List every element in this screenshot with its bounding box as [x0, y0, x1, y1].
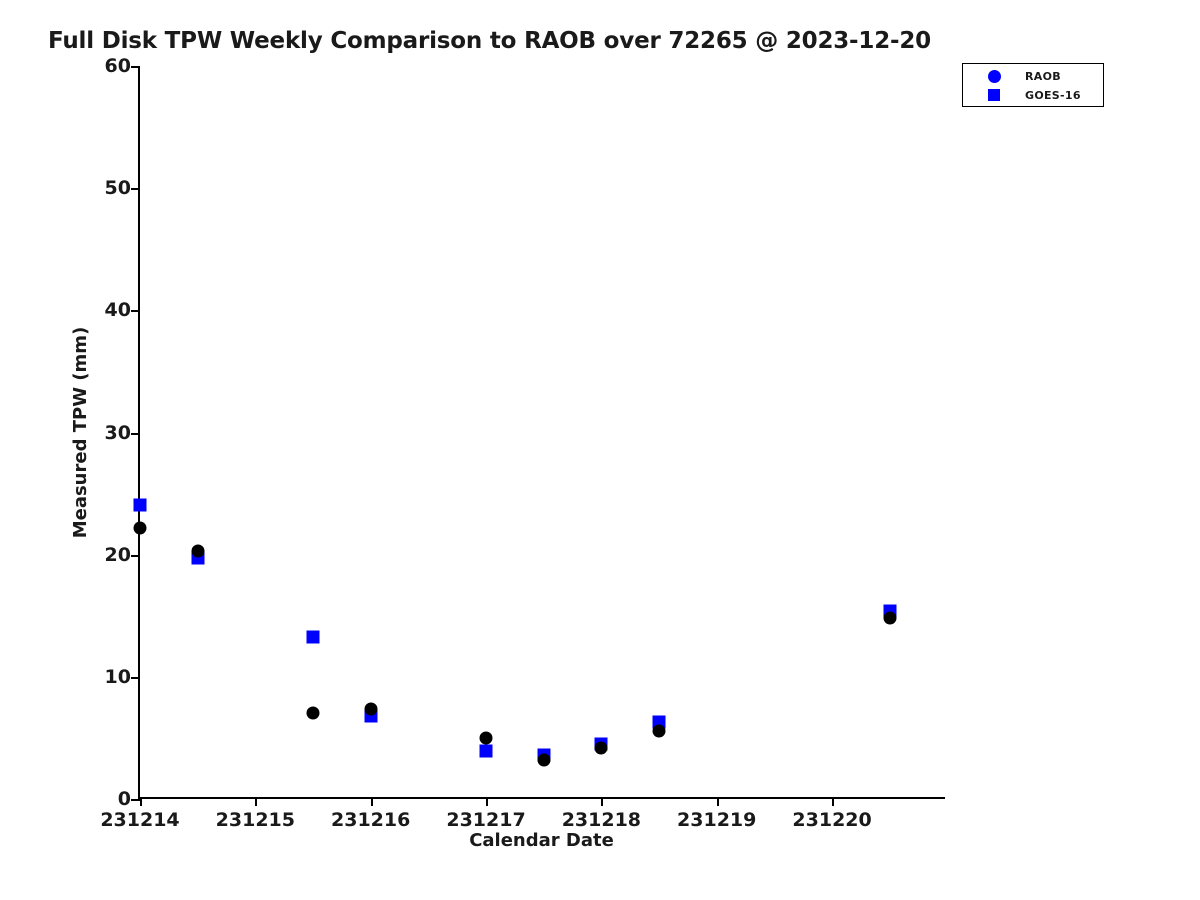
chart-legend: RAOB GOES-16 — [962, 63, 1104, 107]
x-tick-mark — [140, 797, 142, 806]
data-point-raob — [307, 707, 320, 720]
y-tick-label: 30 — [105, 422, 131, 444]
data-points-layer — [140, 66, 945, 797]
x-tick-label: 231220 — [792, 809, 871, 831]
page-title: Full Disk TPW Weekly Comparison to RAOB … — [48, 28, 931, 54]
x-tick-label: 231218 — [562, 809, 641, 831]
x-tick-mark — [371, 797, 373, 806]
data-point-raob — [480, 731, 493, 744]
y-tick-label: 20 — [105, 544, 131, 566]
legend-marker-square-icon — [963, 89, 1025, 101]
y-tick-mark — [131, 555, 140, 557]
legend-item-raob[interactable]: RAOB — [963, 66, 1103, 86]
data-point-raob — [191, 545, 204, 558]
data-point-raob — [883, 612, 896, 625]
data-point-raob — [364, 702, 377, 715]
x-tick-mark — [832, 797, 834, 806]
y-tick-label: 10 — [105, 666, 131, 688]
y-tick-label: 40 — [105, 299, 131, 321]
y-tick-label: 50 — [105, 177, 131, 199]
x-tick-label: 231217 — [446, 809, 525, 831]
chart-figure: Full Disk TPW Weekly Comparison to RAOB … — [0, 0, 1200, 900]
x-tick-mark — [717, 797, 719, 806]
y-tick-mark — [131, 433, 140, 435]
y-tick-label: 60 — [105, 55, 131, 77]
y-axis-title: Measured TPW (mm) — [70, 66, 91, 799]
data-point-goes-16 — [480, 745, 493, 758]
x-tick-label: 231216 — [331, 809, 410, 831]
x-tick-mark — [486, 797, 488, 806]
x-tick-label: 231214 — [100, 809, 179, 831]
plot-area: 0102030405060 23121423121523121623121723… — [138, 66, 945, 799]
legend-label-goes16: GOES-16 — [1025, 89, 1081, 102]
x-tick-label: 231219 — [677, 809, 756, 831]
y-tick-mark — [131, 677, 140, 679]
y-tick-mark — [131, 799, 140, 801]
data-point-raob — [537, 753, 550, 766]
legend-item-goes16[interactable]: GOES-16 — [963, 85, 1103, 105]
y-tick-mark — [131, 310, 140, 312]
y-tick-mark — [131, 66, 140, 68]
data-point-raob — [134, 521, 147, 534]
data-point-goes-16 — [134, 498, 147, 511]
x-tick-mark — [255, 797, 257, 806]
x-tick-label: 231215 — [216, 809, 295, 831]
data-point-goes-16 — [307, 630, 320, 643]
legend-marker-circle-icon — [963, 70, 1025, 83]
x-axis-title: Calendar Date — [138, 830, 945, 851]
x-tick-mark — [601, 797, 603, 806]
data-point-raob — [595, 741, 608, 754]
legend-label-raob: RAOB — [1025, 70, 1061, 83]
data-point-raob — [653, 724, 666, 737]
y-tick-label: 0 — [118, 788, 131, 810]
y-tick-mark — [131, 188, 140, 190]
